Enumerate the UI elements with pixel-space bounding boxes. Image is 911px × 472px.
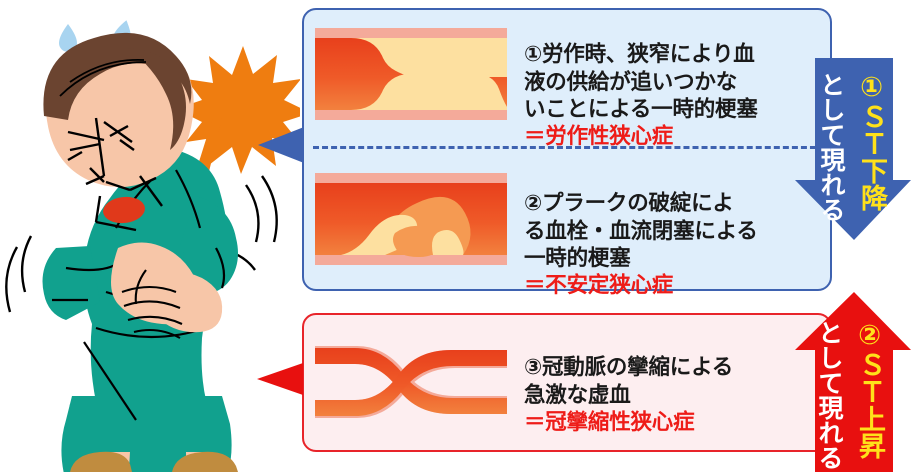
st-depression-sub: として現れる [818, 72, 843, 222]
description-body-3: ③冠動脈の攣縮による 急激な虚血 [524, 355, 733, 406]
st-elevation-label: ②ＳＴ上昇 [856, 320, 883, 459]
description-unstable-angina: ②プラークの破綻によ る血栓・血流閉塞による 一時的梗塞 ＝不安定狭心症 [524, 163, 824, 327]
st-elevation-sub: として現れる [816, 320, 841, 470]
pointer-to-patient-red [257, 363, 303, 395]
plaque-core [393, 226, 439, 257]
up-arrow-shape [795, 292, 911, 472]
description-body-2: ②プラークの破綻によ る血栓・血流閉塞による 一時的梗塞 [524, 191, 758, 270]
description-body-1: ①労作時、狭窄により血 液の供給が追いつかな いことによる一時的梗塞 [524, 42, 758, 121]
diagnosis-unstable-angina: ＝不安定狭心症 [524, 272, 824, 299]
st-elevation-banner [793, 292, 911, 472]
patient-illustration [0, 0, 300, 472]
down-arrow-shape [795, 58, 911, 240]
description-exertional-angina: ①労作時、狭窄により血 液の供給が追いつかな いことによる一時的梗塞 ＝労作性狭… [524, 14, 824, 178]
vessel-diagram-stenosis [315, 28, 507, 120]
vessel-diagram-spasm [315, 338, 507, 426]
st-depression-banner [795, 58, 911, 240]
diagnosis-exertional-angina: ＝労作性狭心症 [524, 123, 824, 150]
illustration-canvas: ①労作時、狭窄により血 液の供給が追いつかな いことによる一時的梗塞 ＝労作性狭… [0, 0, 911, 472]
diagnosis-vasospastic-angina: ＝冠攣縮性狭心症 [524, 409, 824, 436]
description-vasospastic-angina: ③冠動脈の攣縮による 急激な虚血 ＝冠攣縮性狭心症 [524, 327, 824, 463]
vessel-diagram-ruptured-plaque [315, 173, 507, 265]
motion-lines-left [6, 236, 31, 312]
pointer-to-patient-blue [258, 127, 304, 163]
st-depression-label: ①ＳＴ下降 [858, 72, 885, 211]
